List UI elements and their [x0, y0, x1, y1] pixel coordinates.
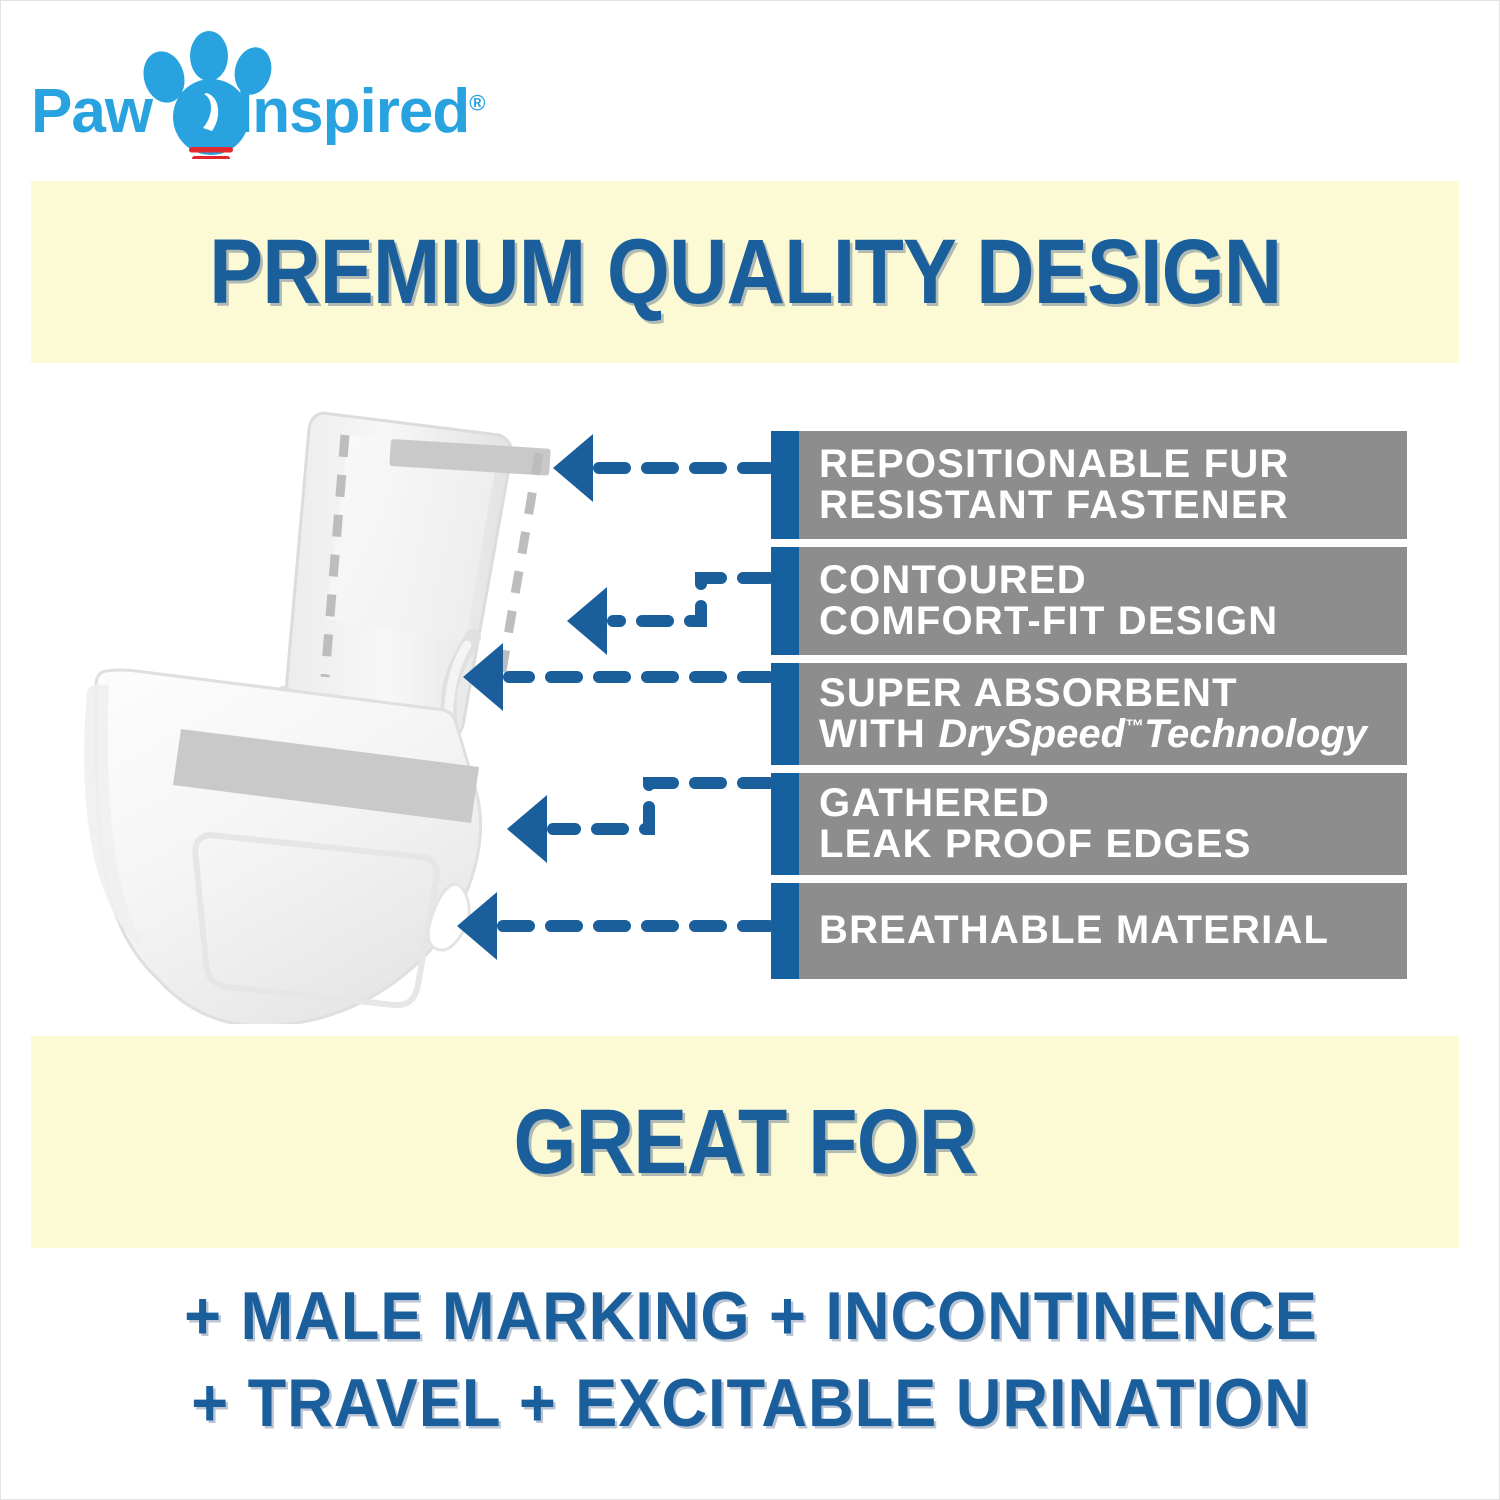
page-title: PREMIUM QUALITY DESIGN	[209, 226, 1281, 318]
feature-line-2: RESISTANT FASTENER	[819, 485, 1407, 526]
feature-line-2: WITH DrySpeed™Technology	[819, 714, 1407, 755]
feature-row-repositionable-fastener[interactable]: REPOSITIONABLE FUR RESISTANT FASTENER	[771, 431, 1407, 539]
feature-row-contoured-comfort-fit[interactable]: CONTOURED COMFORT-FIT DESIGN	[771, 547, 1407, 655]
trademark-icon: ™	[1125, 717, 1144, 738]
feature-text-block: GATHERED LEAK PROOF EDGES	[799, 773, 1407, 875]
dryspeed-brand: DrySpeed	[938, 712, 1125, 756]
brand-logo: PawInspired®	[31, 29, 501, 159]
feature-row-super-absorbent[interactable]: SUPER ABSORBENT WITH DrySpeed™Technology	[771, 663, 1407, 765]
feature-line-1: GATHERED	[819, 783, 1407, 824]
feature-text-block: CONTOURED COMFORT-FIT DESIGN	[799, 547, 1407, 655]
feature-text-block: SUPER ABSORBENT WITH DrySpeed™Technology	[799, 663, 1407, 765]
feature-text-block: BREATHABLE MATERIAL	[799, 883, 1407, 979]
benefits-list: + MALE MARKING + INCONTINENCE + TRAVEL +…	[1, 1273, 1500, 1447]
feature-accent-tab	[771, 431, 799, 539]
feature-line-1: REPOSITIONABLE FUR	[819, 444, 1407, 485]
feature-accent-tab	[771, 663, 799, 765]
premium-quality-banner: PREMIUM QUALITY DESIGN	[31, 181, 1459, 363]
feature-line-2-prefix: WITH	[819, 712, 938, 756]
infographic-canvas: PawInspired® PREMIUM QUALITY DESIGN	[0, 0, 1500, 1500]
feature-line-1: SUPER ABSORBENT	[819, 673, 1407, 714]
product-illustration	[61, 399, 691, 1024]
benefit-line-1: + MALE MARKING + INCONTINENCE	[54, 1273, 1449, 1360]
feature-row-breathable-material[interactable]: BREATHABLE MATERIAL	[771, 883, 1407, 979]
great-for-banner: GREAT FOR	[31, 1036, 1459, 1248]
technology-word: Technology	[1144, 712, 1367, 756]
feature-row-gathered-leak-proof[interactable]: GATHERED LEAK PROOF EDGES	[771, 773, 1407, 875]
feature-line-2: LEAK PROOF EDGES	[819, 824, 1407, 865]
feature-line-1: BREATHABLE MATERIAL	[819, 910, 1407, 951]
benefit-line-2: + TRAVEL + EXCITABLE URINATION	[54, 1360, 1449, 1447]
feature-line-1: CONTOURED	[819, 560, 1407, 601]
logo-text-paw: Paw	[31, 77, 152, 146]
section-title: GREAT FOR	[514, 1096, 977, 1188]
feature-accent-tab	[771, 883, 799, 979]
feature-accent-tab	[771, 547, 799, 655]
feature-text-block: REPOSITIONABLE FUR RESISTANT FASTENER	[799, 431, 1407, 539]
feature-line-2: COMFORT-FIT DESIGN	[819, 601, 1407, 642]
registered-trademark-icon: ®	[469, 90, 484, 115]
feature-accent-tab	[771, 773, 799, 875]
logo-text-inspired: Inspired	[236, 77, 469, 146]
